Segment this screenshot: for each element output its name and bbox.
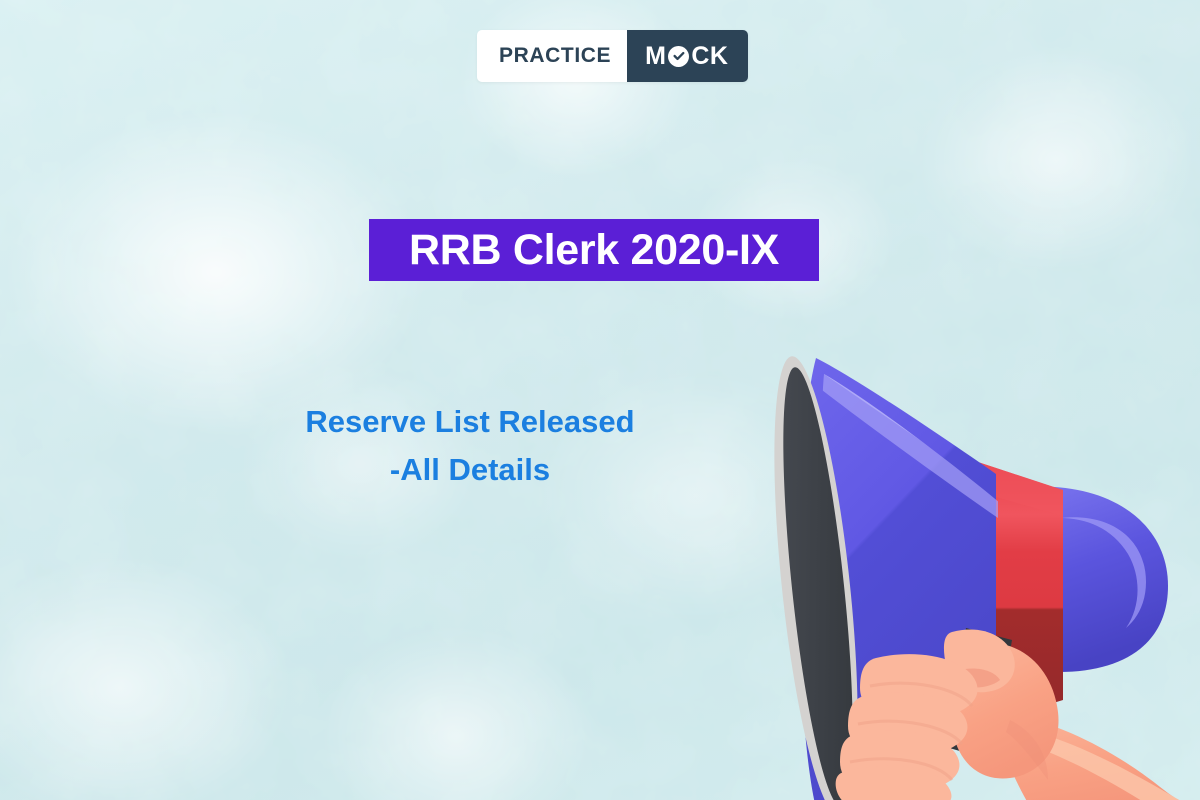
megaphone-illustration (760, 340, 1200, 800)
logo-mock-suffix: CK (691, 44, 728, 69)
title-banner: RRB Clerk 2020-IX (369, 219, 819, 281)
subtitle-line-1: Reserve List Released (230, 398, 710, 446)
subtitle-line-2: -All Details (230, 446, 710, 494)
promo-banner: PRACTICE M CK RRB Clerk 2020-IX Reserve … (0, 0, 1200, 800)
logo-practice-text: PRACTICE (477, 30, 627, 82)
subtitle: Reserve List Released -All Details (230, 398, 710, 494)
logo-mock-prefix: M (645, 44, 666, 69)
page-title: RRB Clerk 2020-IX (409, 226, 779, 275)
logo-mock-block: M CK (627, 30, 748, 82)
check-icon (668, 46, 689, 67)
practicemock-logo: PRACTICE M CK (477, 30, 748, 82)
